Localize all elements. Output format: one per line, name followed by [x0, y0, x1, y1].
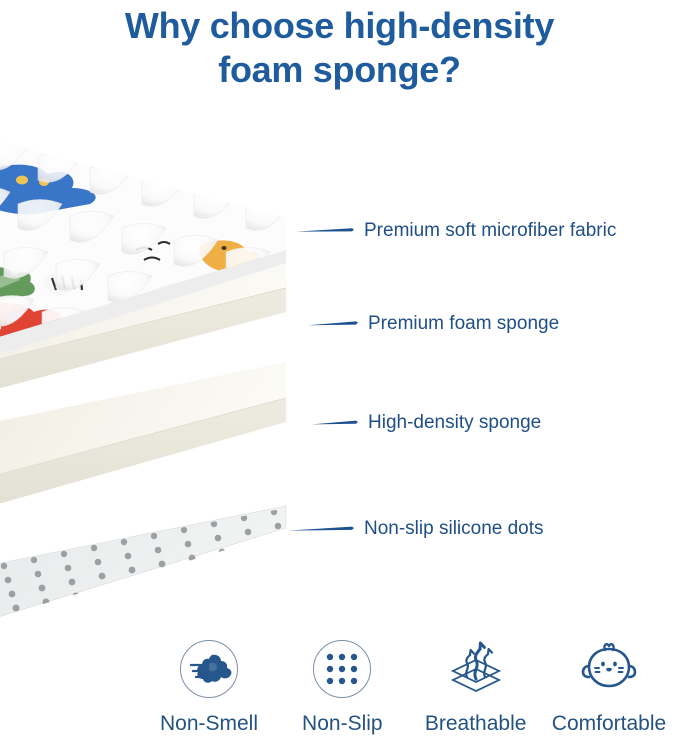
callout-label-3: High-density sponge [368, 412, 541, 434]
feature-non-slip: Non-Slip [278, 638, 406, 736]
callout-label-2: Premium foam sponge [368, 313, 559, 335]
feature-breathable: Breathable [412, 638, 540, 736]
baby-face-icon [578, 638, 640, 700]
exploded-mattress-illustration [0, 100, 316, 630]
layer-high-density-foam [0, 362, 286, 516]
leader-line-icon [296, 224, 354, 238]
feature-label-breathable: Breathable [425, 712, 527, 736]
callout-premium-soft-microfiber-fabric: Premium soft microfiber fabric [296, 216, 616, 246]
callout-premium-foam-sponge: Premium foam sponge [308, 309, 559, 339]
leader-line-icon [312, 416, 358, 430]
callout-label-1: Premium soft microfiber fabric [364, 220, 616, 242]
feature-label-comfortable: Comfortable [552, 712, 666, 736]
layer-silicone-sheet [0, 506, 290, 630]
callout-high-density-sponge: High-density sponge [312, 408, 541, 438]
dot-grid-icon [311, 638, 373, 700]
feature-label-non-slip: Non-Slip [302, 712, 383, 736]
infographic-page: Why choose high-density foam sponge? [0, 0, 679, 748]
page-title: Why choose high-density foam sponge? [0, 0, 679, 92]
feature-comfortable: Comfortable [545, 638, 673, 736]
odor-cloud-wind-icon [178, 638, 240, 700]
callout-label-4: Non-slip silicone dots [364, 518, 544, 540]
leader-line-icon [308, 317, 358, 331]
feature-label-non-smell: Non-Smell [160, 712, 258, 736]
feature-non-smell: Non-Smell [145, 638, 273, 736]
airflow-layers-icon [445, 638, 507, 700]
feature-strip: Non-Smell Non-Slip [145, 638, 673, 736]
page-title-line-1: Why choose high-density [0, 4, 679, 48]
leader-line-icon [288, 522, 354, 536]
page-title-line-2: foam sponge? [0, 48, 679, 92]
callout-non-slip-silicone-dots: Non-slip silicone dots [288, 514, 544, 544]
